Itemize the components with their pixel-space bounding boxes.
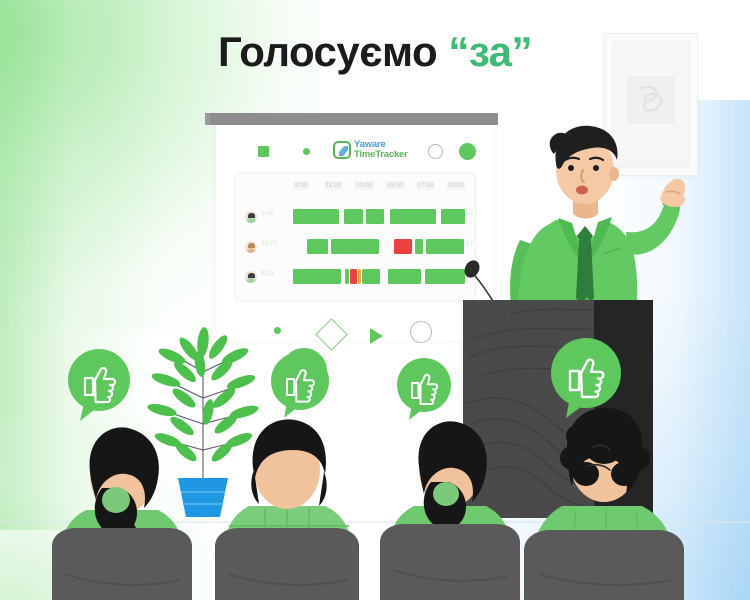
row-track	[293, 209, 465, 224]
activity-segment[interactable]	[350, 269, 357, 284]
timeline-row[interactable]: 9:2318:04	[235, 265, 477, 291]
row-start-time: 10:22	[261, 240, 277, 247]
audience-member-4	[516, 400, 691, 600]
axis-label: 11:00	[324, 181, 344, 190]
audience-member-3	[368, 410, 533, 600]
activity-segment[interactable]	[358, 269, 361, 284]
decor-green-dot-icon	[274, 327, 281, 334]
axis-label: 17:00	[415, 181, 435, 190]
reaction-bubble-1	[66, 349, 132, 423]
activity-segment[interactable]	[441, 209, 465, 224]
audience-member-2	[205, 408, 370, 600]
activity-segment[interactable]	[425, 269, 465, 284]
row-track	[293, 269, 465, 284]
screen-top-bar	[210, 113, 498, 125]
title-quoted-text: “за”	[448, 28, 532, 75]
green-square-icon	[258, 146, 269, 157]
axis-label: 9:00	[293, 181, 310, 190]
green-dot-icon	[303, 148, 310, 155]
yaware-logo: Yaware TimeTracker	[333, 140, 408, 160]
activity-segment[interactable]	[293, 209, 339, 224]
circle-filled-icon	[459, 143, 476, 160]
activity-segment[interactable]	[345, 269, 349, 284]
decor-circle-outline-icon	[410, 321, 432, 343]
activity-segment[interactable]	[366, 209, 384, 224]
speaker-presenter	[486, 108, 686, 318]
axis-label: 19:00	[446, 181, 466, 190]
activity-segment[interactable]	[307, 239, 328, 254]
activity-segment[interactable]	[344, 209, 363, 224]
activity-segment[interactable]	[388, 269, 421, 284]
activity-segment[interactable]	[362, 269, 380, 284]
axis-label: 15:00	[385, 181, 405, 190]
timeline-row[interactable]: 9:4218:24	[235, 205, 477, 231]
activity-segment[interactable]	[426, 239, 464, 254]
activity-segment[interactable]	[394, 239, 412, 254]
activity-segment[interactable]	[293, 269, 341, 284]
title-main-text: Голосуємо	[218, 28, 437, 75]
timeline-row[interactable]: 10:2218:17	[235, 235, 477, 261]
activity-segment[interactable]	[390, 209, 436, 224]
circle-outline-icon	[428, 144, 443, 159]
activity-segment[interactable]	[415, 239, 423, 254]
logo-line-2: TimeTracker	[354, 150, 408, 160]
app-header: Yaware TimeTracker	[216, 137, 494, 167]
yaware-logo-icon	[333, 141, 351, 159]
row-track	[293, 239, 465, 254]
illustration-stage: Голосуємо “за” Yaware TimeTracker	[0, 0, 750, 600]
activity-segment[interactable]	[331, 239, 379, 254]
reaction-bubble-3	[396, 358, 453, 422]
reaction-bubble-2	[270, 352, 330, 420]
audience-member-1	[40, 414, 205, 600]
user-avatar-2-icon	[245, 241, 257, 253]
timeline-panel: 9:0011:0013:0015:0017:0019:00 9:4218:241…	[234, 172, 476, 302]
row-start-time: 9:23	[261, 270, 274, 277]
timeline-axis: 9:0011:0013:0015:0017:0019:00	[293, 181, 465, 195]
row-start-time: 9:42	[261, 210, 274, 217]
reaction-bubble-4	[549, 338, 623, 420]
presentation-screen: Yaware TimeTracker 9:0011:0013:0015:0017…	[216, 125, 494, 340]
yaware-logo-text: Yaware TimeTracker	[354, 140, 408, 160]
user-avatar-1-icon	[245, 211, 257, 223]
axis-label: 13:00	[354, 181, 374, 190]
user-avatar-3-icon	[245, 271, 257, 283]
decor-green-triangle-icon	[370, 328, 383, 344]
